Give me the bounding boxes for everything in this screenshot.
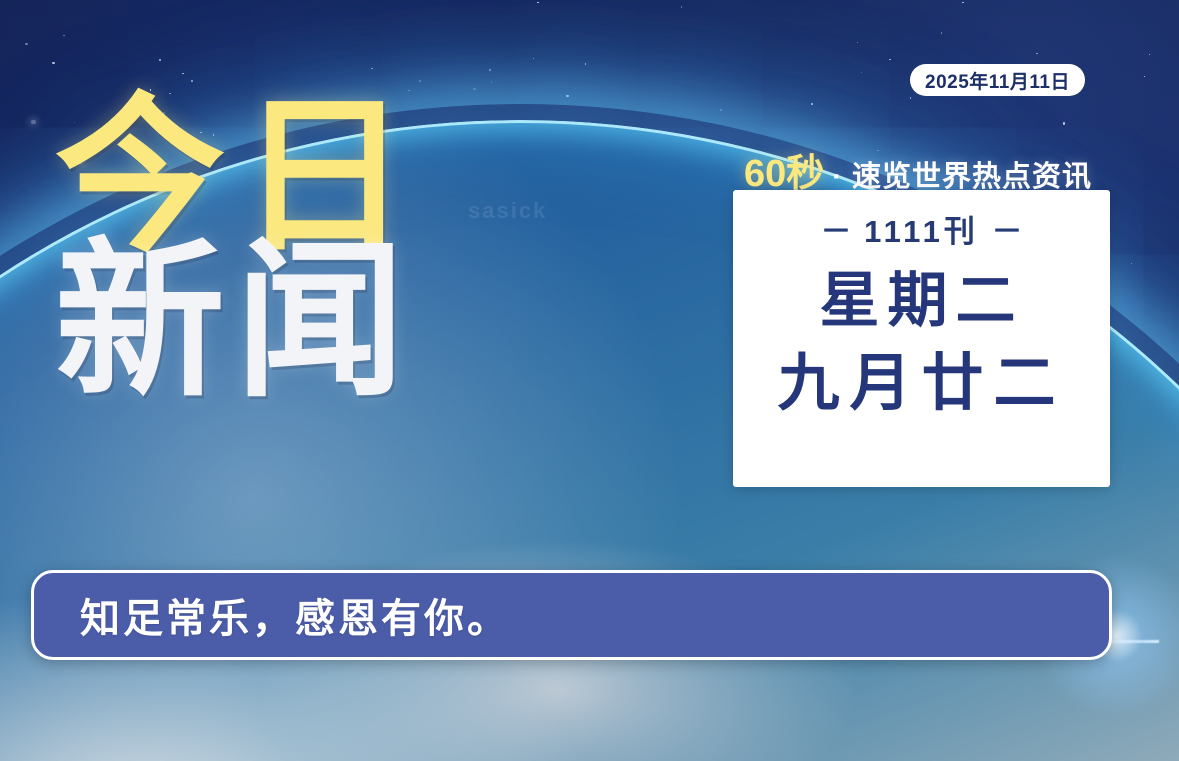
issue-number-row: － 1111刊 － [820,206,1022,251]
tagline-rest: · 速览世界热点资讯 [832,153,1092,195]
watermark: sasick [468,198,547,224]
quote-text: 知足常乐，感恩有你。 [80,586,510,644]
tagline: 60秒 · 速览世界热点资讯 [744,142,1092,197]
page-title: 今日 新闻 [55,96,423,404]
date-badge: 2025年11月11日 [910,64,1085,96]
news-poster: sasick 今日 新闻 2025年11月11日 60秒 · 速览世界热点资讯 … [0,0,1179,761]
issue-dash-left: － [820,214,851,249]
issue-dash-right: － [992,214,1023,249]
quote-bar: 知足常乐，感恩有你。 [31,570,1112,660]
tagline-highlight: 60秒 [744,142,824,197]
date-card: － 1111刊 － 星期二 九月廿二 [733,190,1110,487]
brand-title-line2: 新闻 [55,241,423,404]
issue-number: 1111刊 [864,214,979,249]
weekday-label: 星期二 [820,271,1024,331]
lunar-date-label: 九月廿二 [777,353,1065,415]
